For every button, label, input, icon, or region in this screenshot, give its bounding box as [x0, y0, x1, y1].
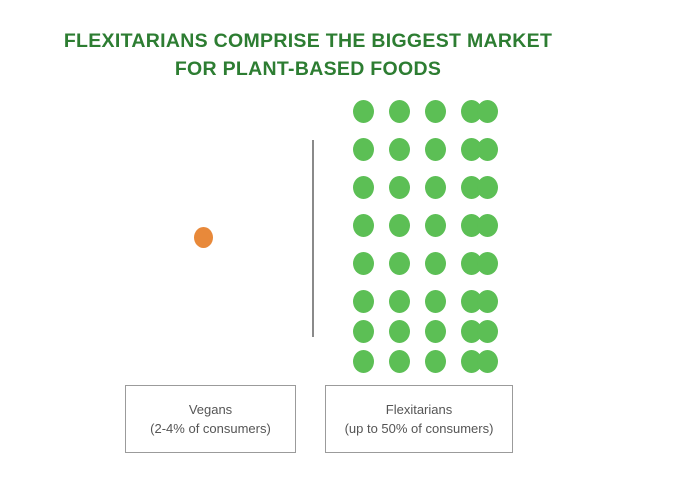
flexitarian-dot: [389, 252, 410, 275]
legend-box-vegans: Vegans (2-4% of consumers): [125, 385, 296, 453]
legend-box-flexitarians: Flexitarians (up to 50% of consumers): [325, 385, 513, 453]
flexitarian-dot: [389, 138, 410, 161]
flexitarian-dot: [425, 252, 446, 275]
flexitarian-dot: [477, 320, 498, 343]
flexitarian-dot: [389, 214, 410, 237]
flexitarian-dot: [389, 320, 410, 343]
flexitarian-dot: [477, 214, 498, 237]
flexitarian-dot: [477, 176, 498, 199]
legend-sublabel-flexitarians: (up to 50% of consumers): [345, 419, 494, 438]
flexitarian-dot: [477, 138, 498, 161]
flexitarian-dot: [353, 214, 374, 237]
flexitarian-dot: [353, 252, 374, 275]
legend-label-vegans: Vegans: [189, 400, 232, 419]
vegan-dot: [194, 227, 213, 248]
flexitarian-dot: [353, 100, 374, 123]
flexitarian-dot: [425, 214, 446, 237]
flexitarian-dot: [353, 138, 374, 161]
flexitarian-dot: [389, 100, 410, 123]
flexitarian-dot: [389, 350, 410, 373]
legend-sublabel-vegans: (2-4% of consumers): [150, 419, 271, 438]
flexitarian-dot: [477, 252, 498, 275]
flexitarian-dot: [389, 176, 410, 199]
legend-label-flexitarians: Flexitarians: [386, 400, 452, 419]
flexitarian-dot: [477, 350, 498, 373]
flexitarian-dot: [353, 176, 374, 199]
flexitarian-dot: [425, 176, 446, 199]
infographic-canvas: FLEXITARIANS COMPRISE THE BIGGEST MARKET…: [0, 0, 700, 485]
flexitarian-dot: [425, 290, 446, 313]
flexitarian-dot: [425, 138, 446, 161]
flexitarian-dot: [353, 350, 374, 373]
flexitarian-dot: [425, 320, 446, 343]
flexitarian-dot: [353, 290, 374, 313]
group-divider: [312, 140, 314, 337]
flexitarian-dot: [389, 290, 410, 313]
flexitarian-dot: [425, 350, 446, 373]
flexitarian-dot: [477, 100, 498, 123]
flexitarian-dot: [353, 320, 374, 343]
flexitarian-dot: [425, 100, 446, 123]
flexitarian-dot: [477, 290, 498, 313]
